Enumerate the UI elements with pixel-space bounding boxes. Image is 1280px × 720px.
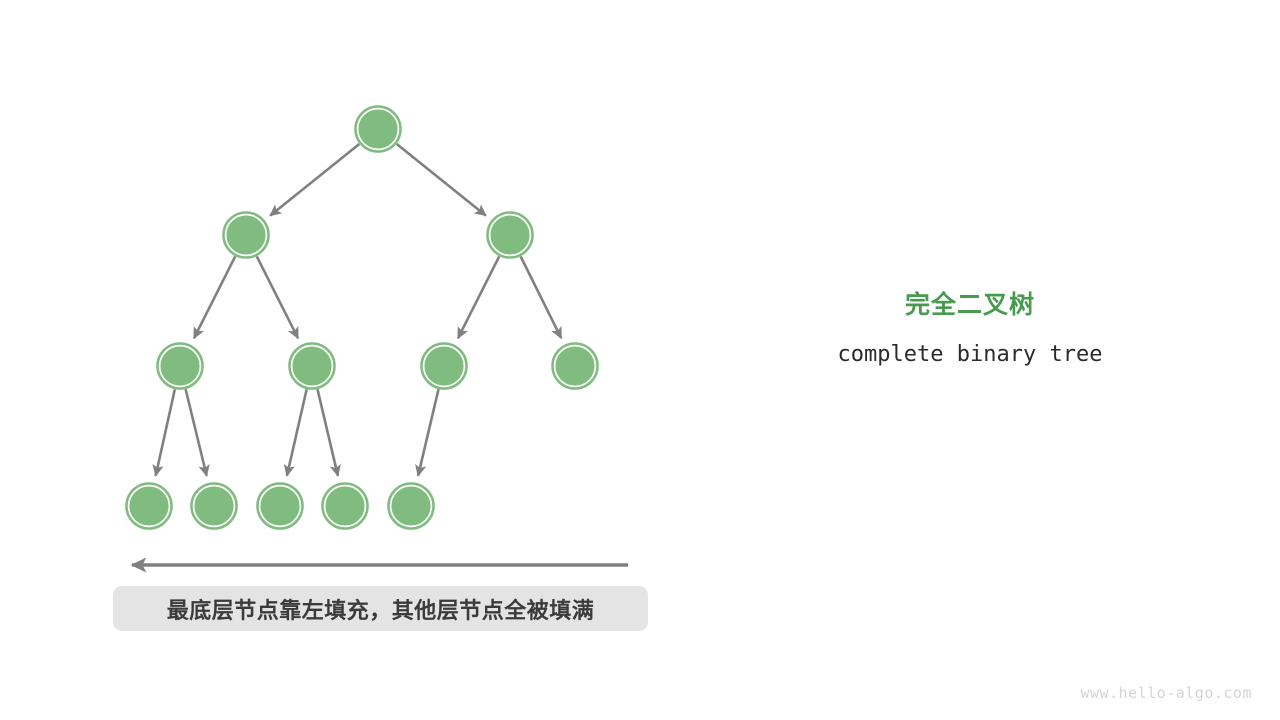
tree-node-core: [425, 347, 463, 385]
tree-edge: [186, 389, 207, 476]
tree-node: [223, 212, 269, 258]
tree-edge-layer: [156, 144, 562, 476]
tree-node-core: [293, 347, 331, 385]
tree-edge: [397, 144, 486, 216]
site-watermark: www.hello-algo.com: [1080, 684, 1252, 702]
tree-node-core: [392, 487, 430, 525]
tree-edge: [156, 389, 175, 475]
tree-node-core: [359, 110, 397, 148]
tree-edge: [318, 389, 338, 475]
tree-node-core: [556, 347, 594, 385]
caption-text: 最底层节点靠左填充，其他层节点全被填满: [167, 593, 595, 625]
tree-node: [355, 106, 401, 152]
tree-node-core: [227, 216, 265, 254]
tree-node: [322, 483, 368, 529]
tree-edge: [287, 389, 307, 475]
tree-node: [289, 343, 335, 389]
tree-edge: [418, 389, 438, 475]
tree-edge: [458, 256, 499, 338]
tree-node: [552, 343, 598, 389]
tree-node: [157, 343, 203, 389]
tree-node-layer: [126, 106, 598, 529]
tree-node-core: [195, 487, 233, 525]
tree-node: [257, 483, 303, 529]
tree-node: [126, 483, 172, 529]
tree-node: [487, 212, 533, 258]
tree-node: [388, 483, 434, 529]
diagram-title: 完全二叉树: [780, 290, 1160, 320]
tree-node-core: [326, 487, 364, 525]
tree-edge: [521, 256, 562, 338]
tree-node-core: [491, 216, 529, 254]
tree-node-core: [130, 487, 168, 525]
tree-edge: [194, 256, 235, 338]
tree-edge: [270, 144, 359, 216]
tree-node: [191, 483, 237, 529]
tree-node: [421, 343, 467, 389]
tree-node-core: [261, 487, 299, 525]
caption-box: 最底层节点靠左填充，其他层节点全被填满: [113, 586, 648, 631]
legend-block: 完全二叉树 complete binary tree: [780, 290, 1160, 367]
tree-edge: [257, 256, 298, 338]
diagram-subtitle: complete binary tree: [780, 342, 1160, 367]
tree-node-core: [161, 347, 199, 385]
